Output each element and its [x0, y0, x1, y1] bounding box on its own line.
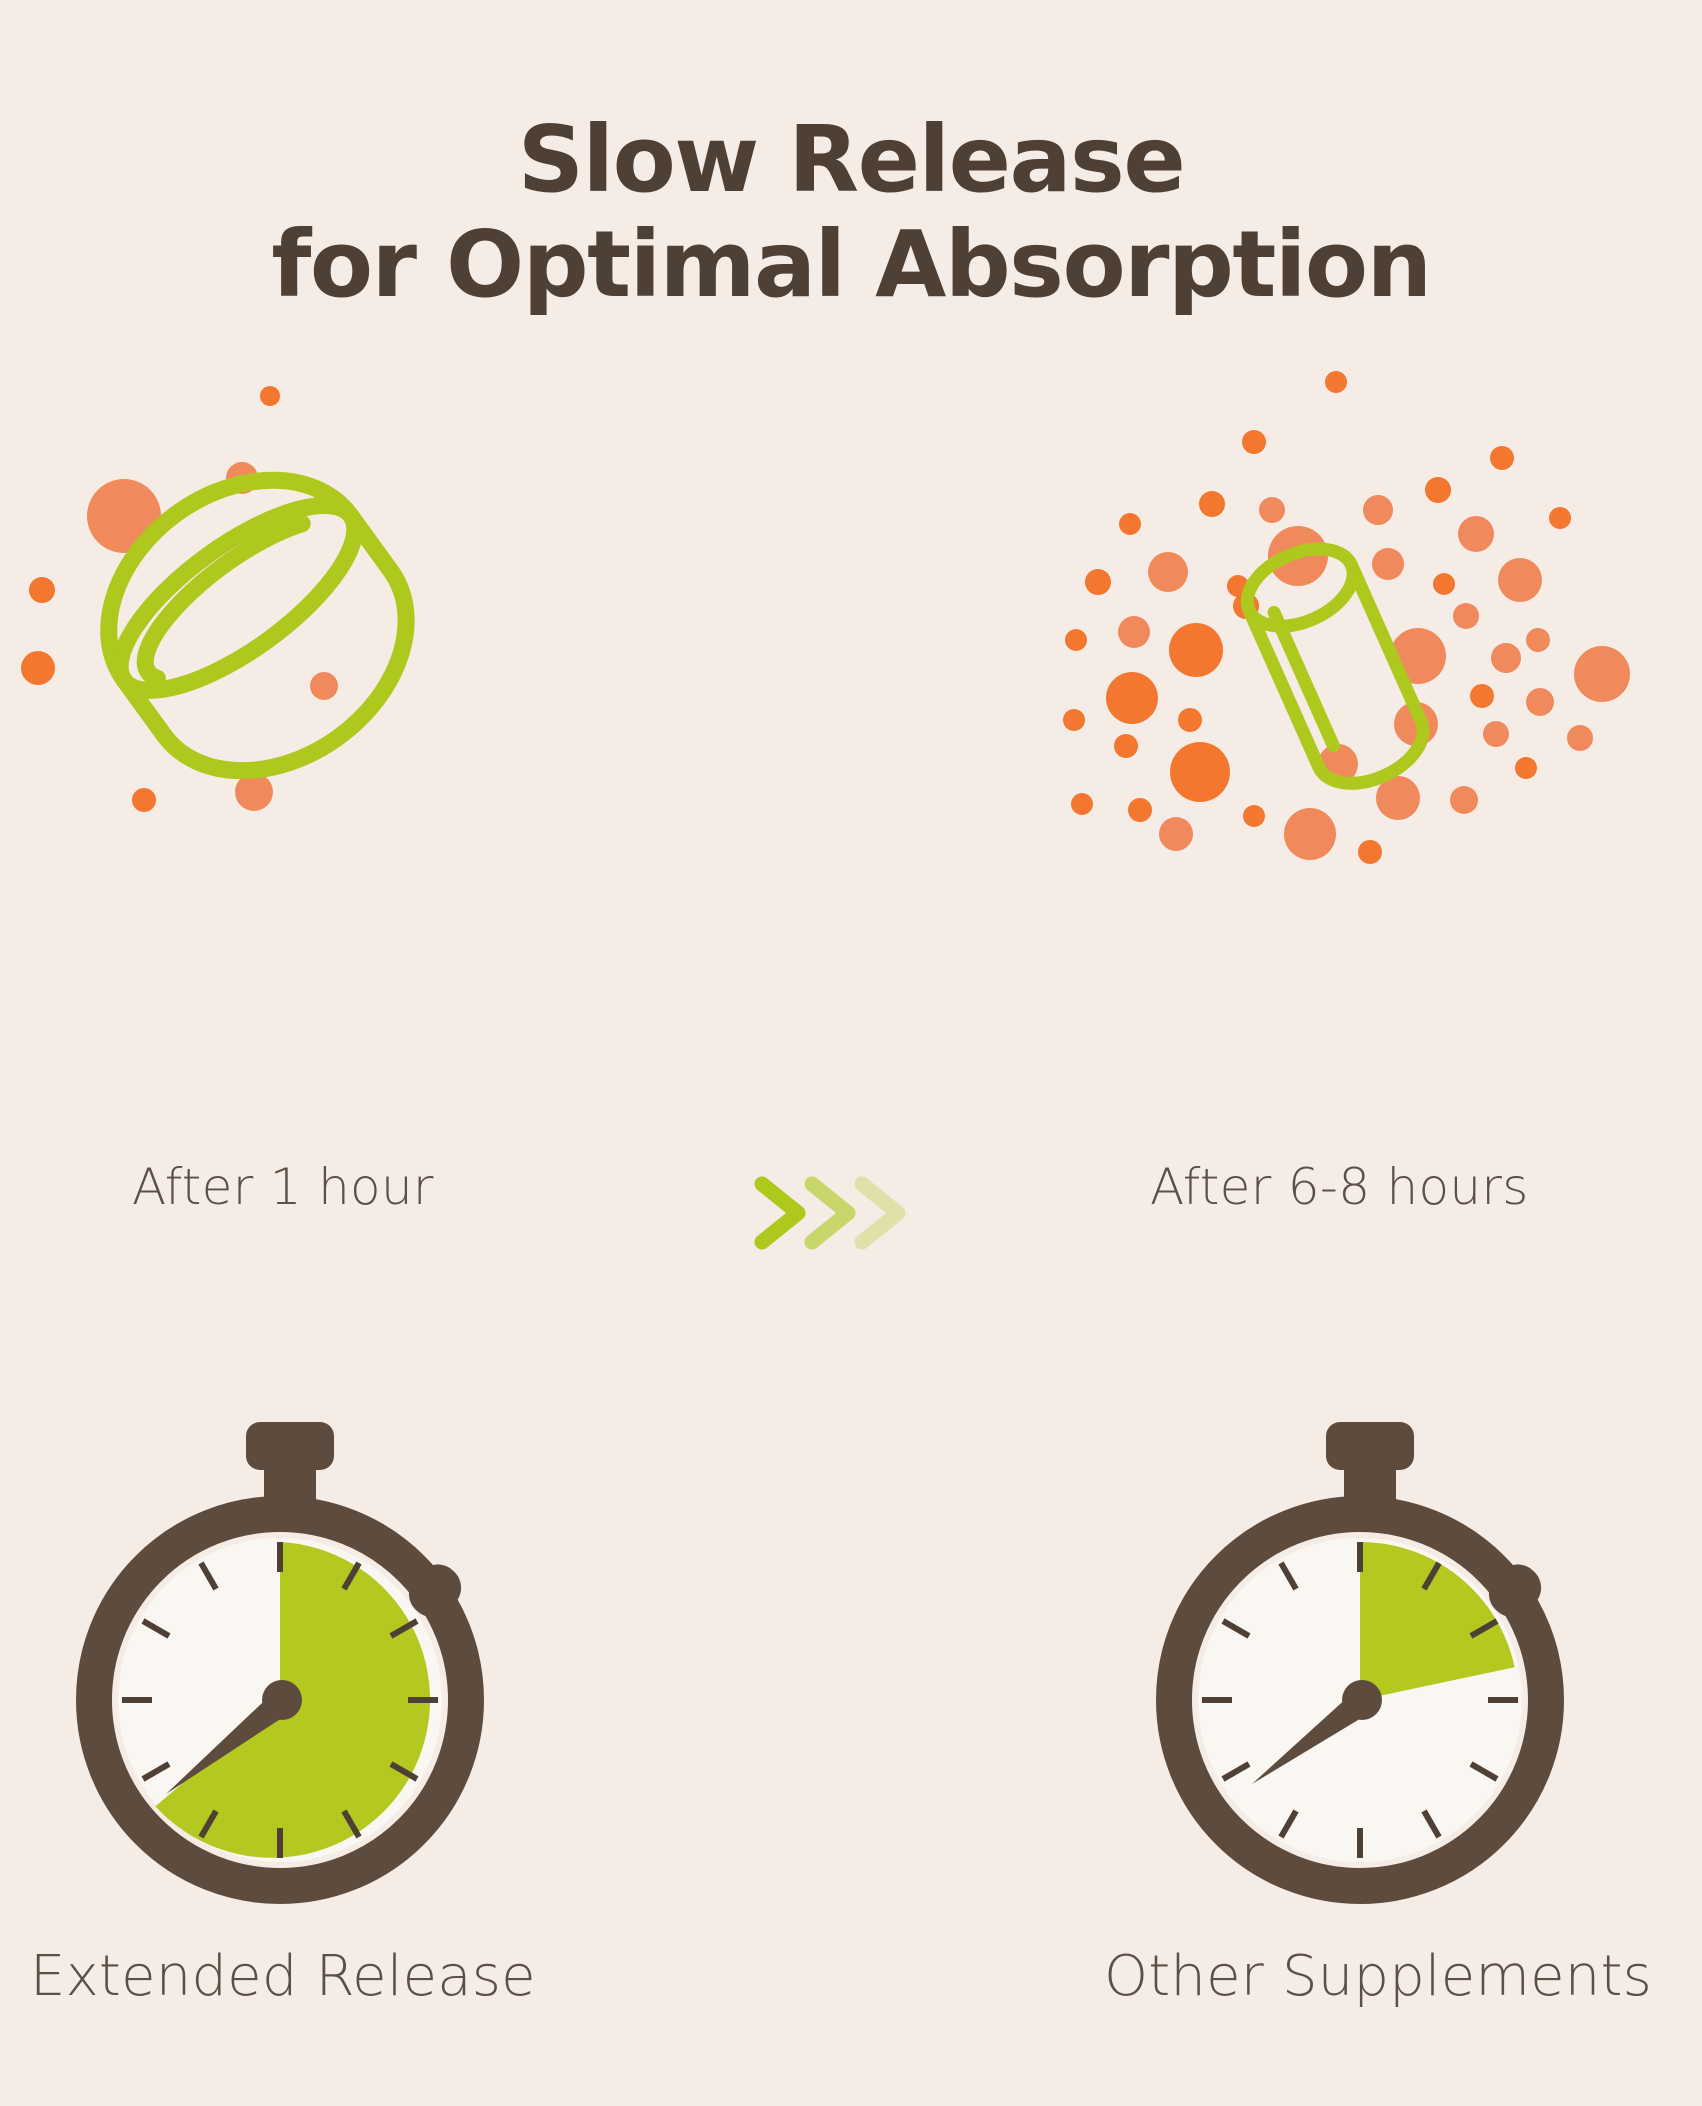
page-title-line-2: for Optimal Absorption	[0, 213, 1702, 318]
pill-dissolving-illustration	[1040, 368, 1660, 888]
page-title-line-1: Slow Release	[0, 108, 1702, 213]
stopwatch-extended-release	[60, 1380, 500, 1940]
page-title: Slow Release for Optimal Absorption	[0, 108, 1702, 318]
orange-dot-group	[1063, 371, 1630, 864]
stopwatch-other-supplements	[1140, 1380, 1580, 1940]
pill-intact-illustration	[20, 368, 640, 888]
chevron-1-icon	[762, 1184, 798, 1242]
pill-comparison-stage	[0, 368, 1702, 888]
caption-after-6-8-hours: After 6-8 hours	[1150, 1158, 1529, 1216]
infographic-canvas: Slow Release for Optimal Absorption	[0, 0, 1702, 2106]
caption-after-1-hour: After 1 hour	[132, 1158, 434, 1216]
label-other-supplements: Other Supplements	[1104, 1944, 1652, 2009]
label-extended-release: Extended Release	[30, 1944, 536, 2009]
chevron-3-icon	[862, 1184, 898, 1242]
chevron-2-icon	[812, 1184, 848, 1242]
chevron-right-triple-icon	[740, 1158, 930, 1268]
stopwatch-comparison-row	[0, 1380, 1702, 1940]
